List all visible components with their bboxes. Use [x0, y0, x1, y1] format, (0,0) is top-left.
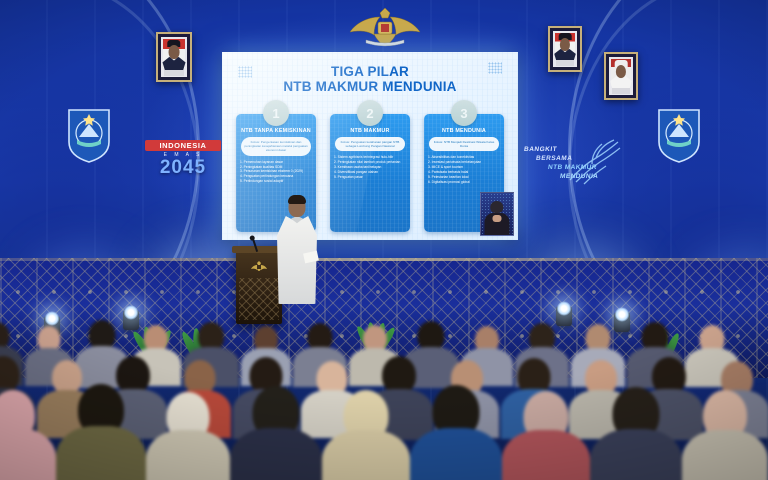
pillar-card-focus: Fokus: Penguatan ketahanan pangan NTB se… — [335, 137, 405, 151]
audience-member — [146, 382, 230, 480]
seated-audience — [0, 304, 768, 480]
audience-member — [590, 382, 682, 480]
garuda-pancasila-emblem — [344, 4, 426, 48]
audience-member — [682, 382, 768, 480]
bangkit-bersama-banner: BANGKIT BERSAMA NTB MAKMUR MENDUNIA — [516, 142, 622, 196]
official-portrait-right-lower — [604, 52, 638, 100]
pillar-card-items: 1. Pemenuhan layanan dasar 2. Peningkata… — [240, 160, 312, 184]
banner-bangkit-label: BANGKIT — [524, 146, 558, 153]
audience-member — [322, 382, 410, 480]
ntb-province-crest-left — [66, 106, 112, 164]
pillar-item: 1. Pemenuhan layanan dasar — [240, 160, 312, 164]
pillar-item: 4. Pariwisata berbasis halal — [428, 170, 500, 174]
pillar-card-focus: Fokus: Pengentasan kemiskinan dan pening… — [241, 137, 311, 156]
audience-member — [56, 382, 146, 480]
pillar-item: 3. MICE & sport tourism — [428, 165, 500, 169]
speaker-at-podium — [276, 196, 318, 304]
conference-stage-photo: TIGA PILAR NTB MAKMUR MENDUNIA 1 NTB TAN… — [0, 0, 768, 480]
pillar-item: 2. Peningkatan nilai tambah produk perta… — [334, 160, 406, 164]
pillar-item: 1. Aksesibilitas dan konektivitas — [428, 155, 500, 159]
presentation-screen: TIGA PILAR NTB MAKMUR MENDUNIA 1 NTB TAN… — [222, 52, 518, 240]
pillar-item: 5. Pelestarian kearifan lokal — [428, 175, 500, 179]
pillar-item: 1. Sistem agribisnis terintegrasi hulu-h… — [334, 155, 406, 159]
pillar-item: 2. Peningkatan kualitas SDM — [240, 165, 312, 169]
pillar-item: 3. Kemitraan usaha tani/nelayan — [334, 165, 406, 169]
pillar-item: 5. Perlindungan sosial adaptif — [240, 179, 312, 183]
pillar-item: 4. Diversifikasi pangan olahan — [334, 170, 406, 174]
banner-indonesia-label: INDONESIA — [145, 140, 221, 151]
banner-year-2045: 2045 — [145, 158, 221, 177]
audience-row-front — [0, 382, 768, 480]
pillar-item: 5. Penguatan pasar — [334, 175, 406, 179]
pillar-item: 6. Digitalisasi promosi global — [428, 180, 500, 184]
pillar-card-items: 1. Aksesibilitas dan konektivitas 2. Inv… — [428, 155, 500, 184]
official-portrait-right-upper — [548, 26, 582, 72]
ntb-province-crest-right — [656, 106, 702, 164]
official-portrait-left — [156, 32, 192, 82]
winged-horse-logo — [562, 136, 624, 192]
slide-title-line2: NTB MAKMUR MENDUNIA — [222, 80, 518, 95]
pillar-card-items: 1. Sistem agribisnis terintegrasi hulu-h… — [334, 155, 406, 179]
audience-member — [502, 382, 590, 480]
pillar-badge-number: 2 — [357, 100, 383, 126]
pillar-card-title: NTB MAKMUR — [330, 128, 410, 134]
pillar-card-title: NTB MENDUNIA — [424, 128, 504, 134]
pillar-badge-number: 3 — [451, 100, 477, 126]
pillar-card-title: NTB TANPA KEMISKINAN — [236, 128, 316, 134]
audience-member — [0, 382, 56, 480]
slide-title: TIGA PILAR NTB MAKMUR MENDUNIA — [222, 65, 518, 94]
pillar-item: 3. Penurunan kemiskinan ekstrem 0 (2029) — [240, 169, 312, 173]
pillar-card: 2 NTB MAKMUR Fokus: Penguatan ketahanan … — [330, 114, 410, 232]
indonesia-emas-banner: INDONESIA E M A S 2045 — [145, 140, 221, 192]
pillar-item: 4. Penguatan perlindungan bencana — [240, 174, 312, 178]
pillar-item: 2. Investasi pariwisata berkelanjutan — [428, 160, 500, 164]
audience-member — [230, 382, 322, 480]
slide-title-line1: TIGA PILAR — [222, 65, 518, 80]
pillar-badge-number: 1 — [263, 100, 289, 126]
sign-language-interpreter-inset — [480, 192, 514, 236]
garuda-podium-emblem — [250, 260, 268, 274]
pillar-card-focus: Fokus: NTB Menjadi Destinasi Wisata Kela… — [429, 137, 499, 151]
audience-member — [410, 382, 502, 480]
